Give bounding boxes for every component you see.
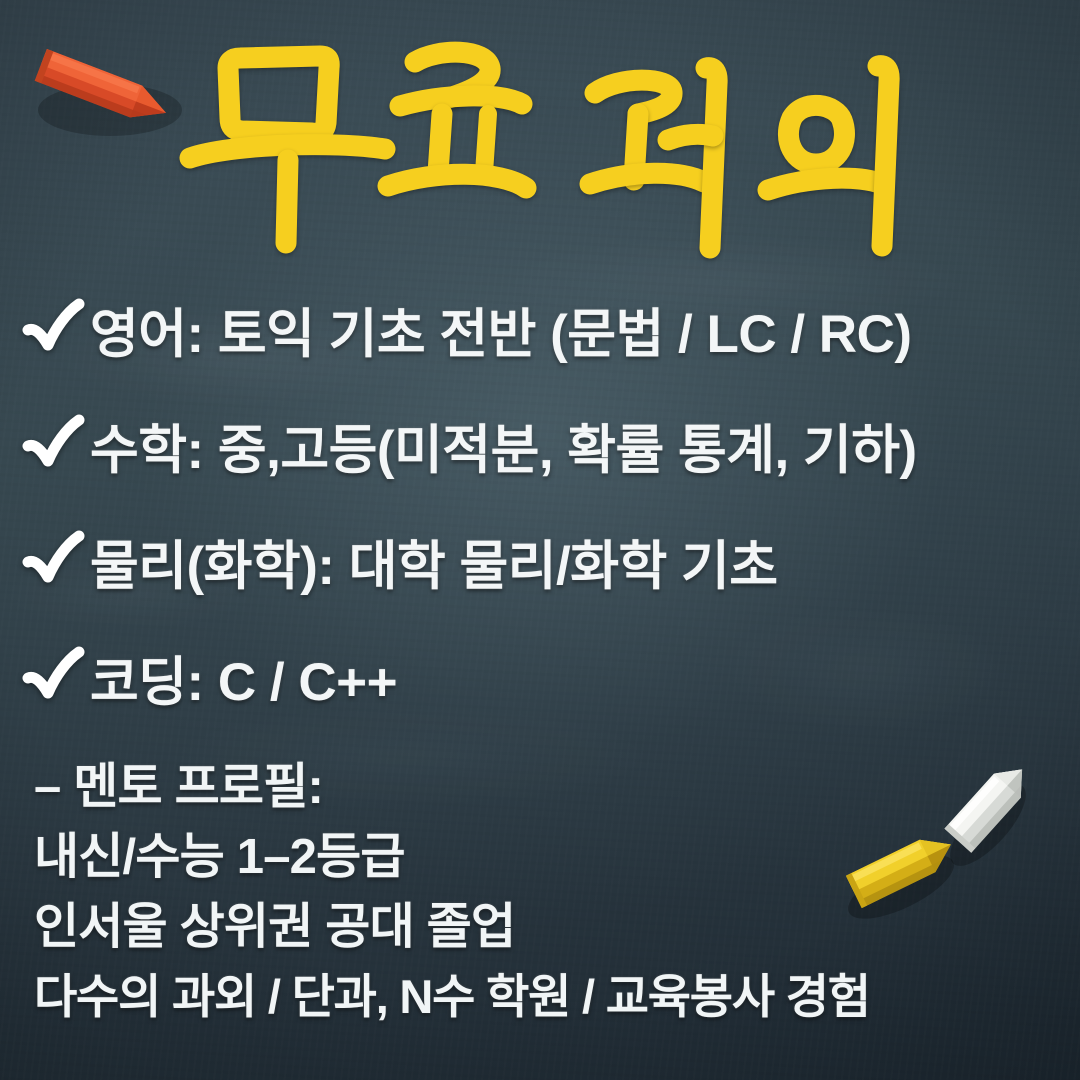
- profile-heading: – 멘토 프로필:: [34, 752, 1070, 822]
- subject-label: 물리(화학): 대학 물리/화학 기초: [90, 524, 777, 600]
- mentor-profile: – 멘토 프로필: 내신/수능 1–2등급 인서울 상위권 공대 졸업 다수의 …: [34, 752, 1070, 1032]
- list-item: 수학: 중,고등(미적분, 확률 통계, 기하): [22, 388, 1070, 504]
- check-icon: [22, 529, 84, 591]
- profile-line: 다수의 과외 / 단과, N수 학원 / 교육봉사 경험: [34, 962, 1070, 1032]
- list-item: 영어: 토익 기초 전반 (문법 / LC / RC): [22, 272, 1070, 388]
- subject-label: 수학: 중,고등(미적분, 확률 통계, 기하): [90, 408, 917, 484]
- check-icon: [22, 297, 84, 359]
- subject-label: 영어: 토익 기초 전반 (문법 / LC / RC): [90, 292, 912, 368]
- list-item: 코딩: C / C++: [22, 620, 1070, 736]
- profile-line: 인서울 상위권 공대 졸업: [34, 892, 1070, 962]
- check-icon: [22, 645, 84, 707]
- poster-title: 무료 과외: [0, 18, 1080, 253]
- chalkboard-poster: 무료 과외: [0, 0, 1080, 1080]
- check-icon: [22, 413, 84, 475]
- subject-list: 영어: 토익 기초 전반 (문법 / LC / RC) 수학: 중,고등(미적분…: [22, 272, 1070, 736]
- list-item: 물리(화학): 대학 물리/화학 기초: [22, 504, 1070, 620]
- profile-line: 내신/수능 1–2등급: [34, 822, 1070, 892]
- subject-label: 코딩: C / C++: [90, 640, 397, 716]
